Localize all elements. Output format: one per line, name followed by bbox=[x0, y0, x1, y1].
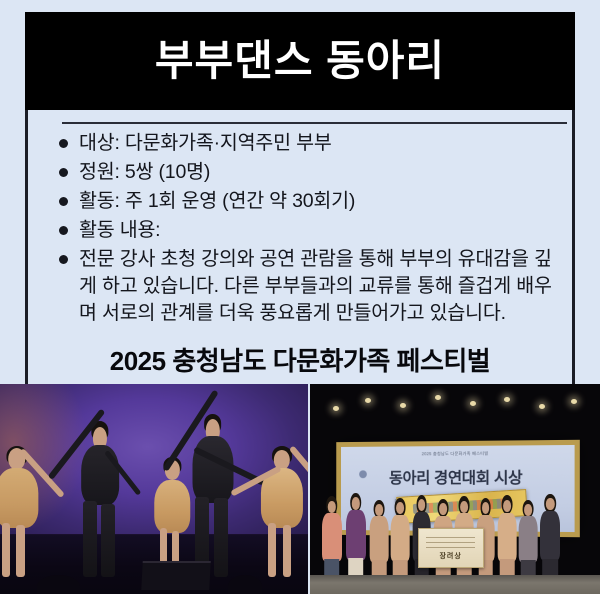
list-item-label: 활동 내용: bbox=[79, 217, 562, 244]
person-figure bbox=[346, 493, 366, 582]
dancer-leg bbox=[2, 523, 11, 578]
person-figure bbox=[498, 495, 517, 581]
dancer-leg bbox=[83, 501, 97, 578]
person-body bbox=[519, 516, 538, 562]
bullet-icon bbox=[59, 139, 68, 148]
stage-light-icon bbox=[571, 399, 577, 404]
stage-light-icon bbox=[365, 398, 371, 403]
photo-award-ceremony: 2025 충청남도 다문화가족 페스티벌 동아리 경연대회 시상 다문화가족 동… bbox=[310, 384, 600, 594]
person-face bbox=[503, 500, 511, 512]
stage-light-icon bbox=[333, 406, 339, 411]
dancer-figure bbox=[0, 447, 46, 577]
activity-description: 전문 강사 초청 강의와 공연 관람을 통해 부부의 유대감을 깊게 하고 있습… bbox=[79, 246, 562, 327]
list-item: 대상: 다문화가족·지역주민 부부 bbox=[50, 130, 562, 157]
dancer-leg bbox=[268, 523, 276, 578]
divider-rule bbox=[62, 122, 567, 124]
person-face bbox=[524, 504, 532, 515]
list-item-label: 활동: 주 1회 운영 (연간 약 30회기) bbox=[79, 188, 562, 215]
certificate-line bbox=[426, 542, 475, 543]
person-figure bbox=[322, 496, 342, 581]
dancer-leg bbox=[101, 504, 115, 577]
detail-list: 대상: 다문화가족·지역주민 부부 정원: 5쌍 (10명) 활동: 주 1회 … bbox=[50, 130, 562, 329]
stage-monitor-speaker bbox=[141, 561, 210, 590]
stage-light-icon bbox=[470, 401, 476, 406]
bullet-icon bbox=[59, 255, 68, 264]
certificate-line bbox=[426, 547, 475, 548]
person-figure bbox=[391, 498, 410, 581]
person-body bbox=[322, 513, 342, 561]
list-item: 활동: 주 1회 운영 (연간 약 30회기) bbox=[50, 188, 562, 215]
person-body bbox=[498, 513, 517, 561]
bullet-icon bbox=[59, 168, 68, 177]
dancer-torso bbox=[81, 445, 119, 506]
person-body bbox=[346, 510, 366, 560]
dancer-figure bbox=[253, 447, 308, 577]
list-item-label: 정원: 5쌍 (10명) bbox=[79, 159, 562, 186]
dancer-leg bbox=[283, 525, 291, 577]
person-figure bbox=[370, 500, 389, 581]
person-body bbox=[540, 511, 560, 560]
stage-light-icon bbox=[504, 397, 510, 402]
award-certificate: 장려상 bbox=[418, 528, 484, 569]
stage-light-icon bbox=[435, 395, 441, 400]
list-item-paragraph: 전문 강사 초청 강의와 공연 관람을 통해 부부의 유대감을 깊게 하고 있습… bbox=[50, 246, 562, 327]
person-figure bbox=[540, 494, 560, 582]
dancer-leg bbox=[214, 498, 228, 577]
dancer-torso bbox=[192, 436, 233, 503]
ceiling-lights bbox=[310, 392, 600, 421]
certificate-line bbox=[426, 537, 475, 538]
list-item: 정원: 5쌍 (10명) bbox=[50, 159, 562, 186]
certificate-label: 장려상 bbox=[419, 551, 483, 561]
person-body bbox=[391, 515, 410, 562]
screen-supertitle: 2025 충청남도 다문화가족 페스티벌 bbox=[341, 450, 574, 458]
list-item-label: 대상: 다문화가족·지역주민 부부 bbox=[79, 130, 562, 157]
stage-light-icon bbox=[400, 403, 406, 408]
list-item: 활동 내용: bbox=[50, 217, 562, 244]
foreground-silhouette bbox=[37, 575, 80, 594]
person-face bbox=[418, 499, 426, 511]
photo-dance-performance bbox=[0, 384, 308, 594]
person-face bbox=[396, 502, 404, 514]
poster-page: 부부댄스 동아리 대상: 다문화가족·지역주민 부부 정원: 5쌍 (10명) … bbox=[0, 0, 600, 594]
person-face bbox=[460, 501, 468, 513]
person-face bbox=[375, 504, 383, 515]
content-card: 대상: 다문화가족·지역주민 부부 정원: 5쌍 (10명) 활동: 주 1회 … bbox=[25, 110, 575, 384]
group-photo-row: 장려상 bbox=[322, 489, 589, 581]
person-face bbox=[439, 503, 447, 515]
photo-strip: 2025 충청남도 다문화가족 페스티벌 동아리 경연대회 시상 다문화가족 동… bbox=[0, 384, 600, 594]
person-body bbox=[370, 516, 389, 562]
title-banner: 부부댄스 동아리 bbox=[25, 12, 575, 110]
page-title: 부부댄스 동아리 bbox=[155, 40, 445, 82]
screen-title: 동아리 경연대회 시상 bbox=[341, 465, 574, 488]
foreground-silhouette bbox=[228, 575, 262, 594]
person-face bbox=[482, 502, 490, 514]
stage-light-icon bbox=[539, 404, 545, 409]
festival-headline: 2025 충청남도 다문화가족 페스티벌 bbox=[28, 341, 572, 378]
hall-floor bbox=[310, 575, 600, 594]
person-figure bbox=[519, 500, 538, 581]
dancer-figure bbox=[74, 418, 126, 578]
bullet-icon bbox=[59, 226, 68, 235]
bullet-icon bbox=[59, 197, 68, 206]
dancer-leg bbox=[16, 525, 25, 577]
dancer-torso bbox=[0, 468, 39, 528]
